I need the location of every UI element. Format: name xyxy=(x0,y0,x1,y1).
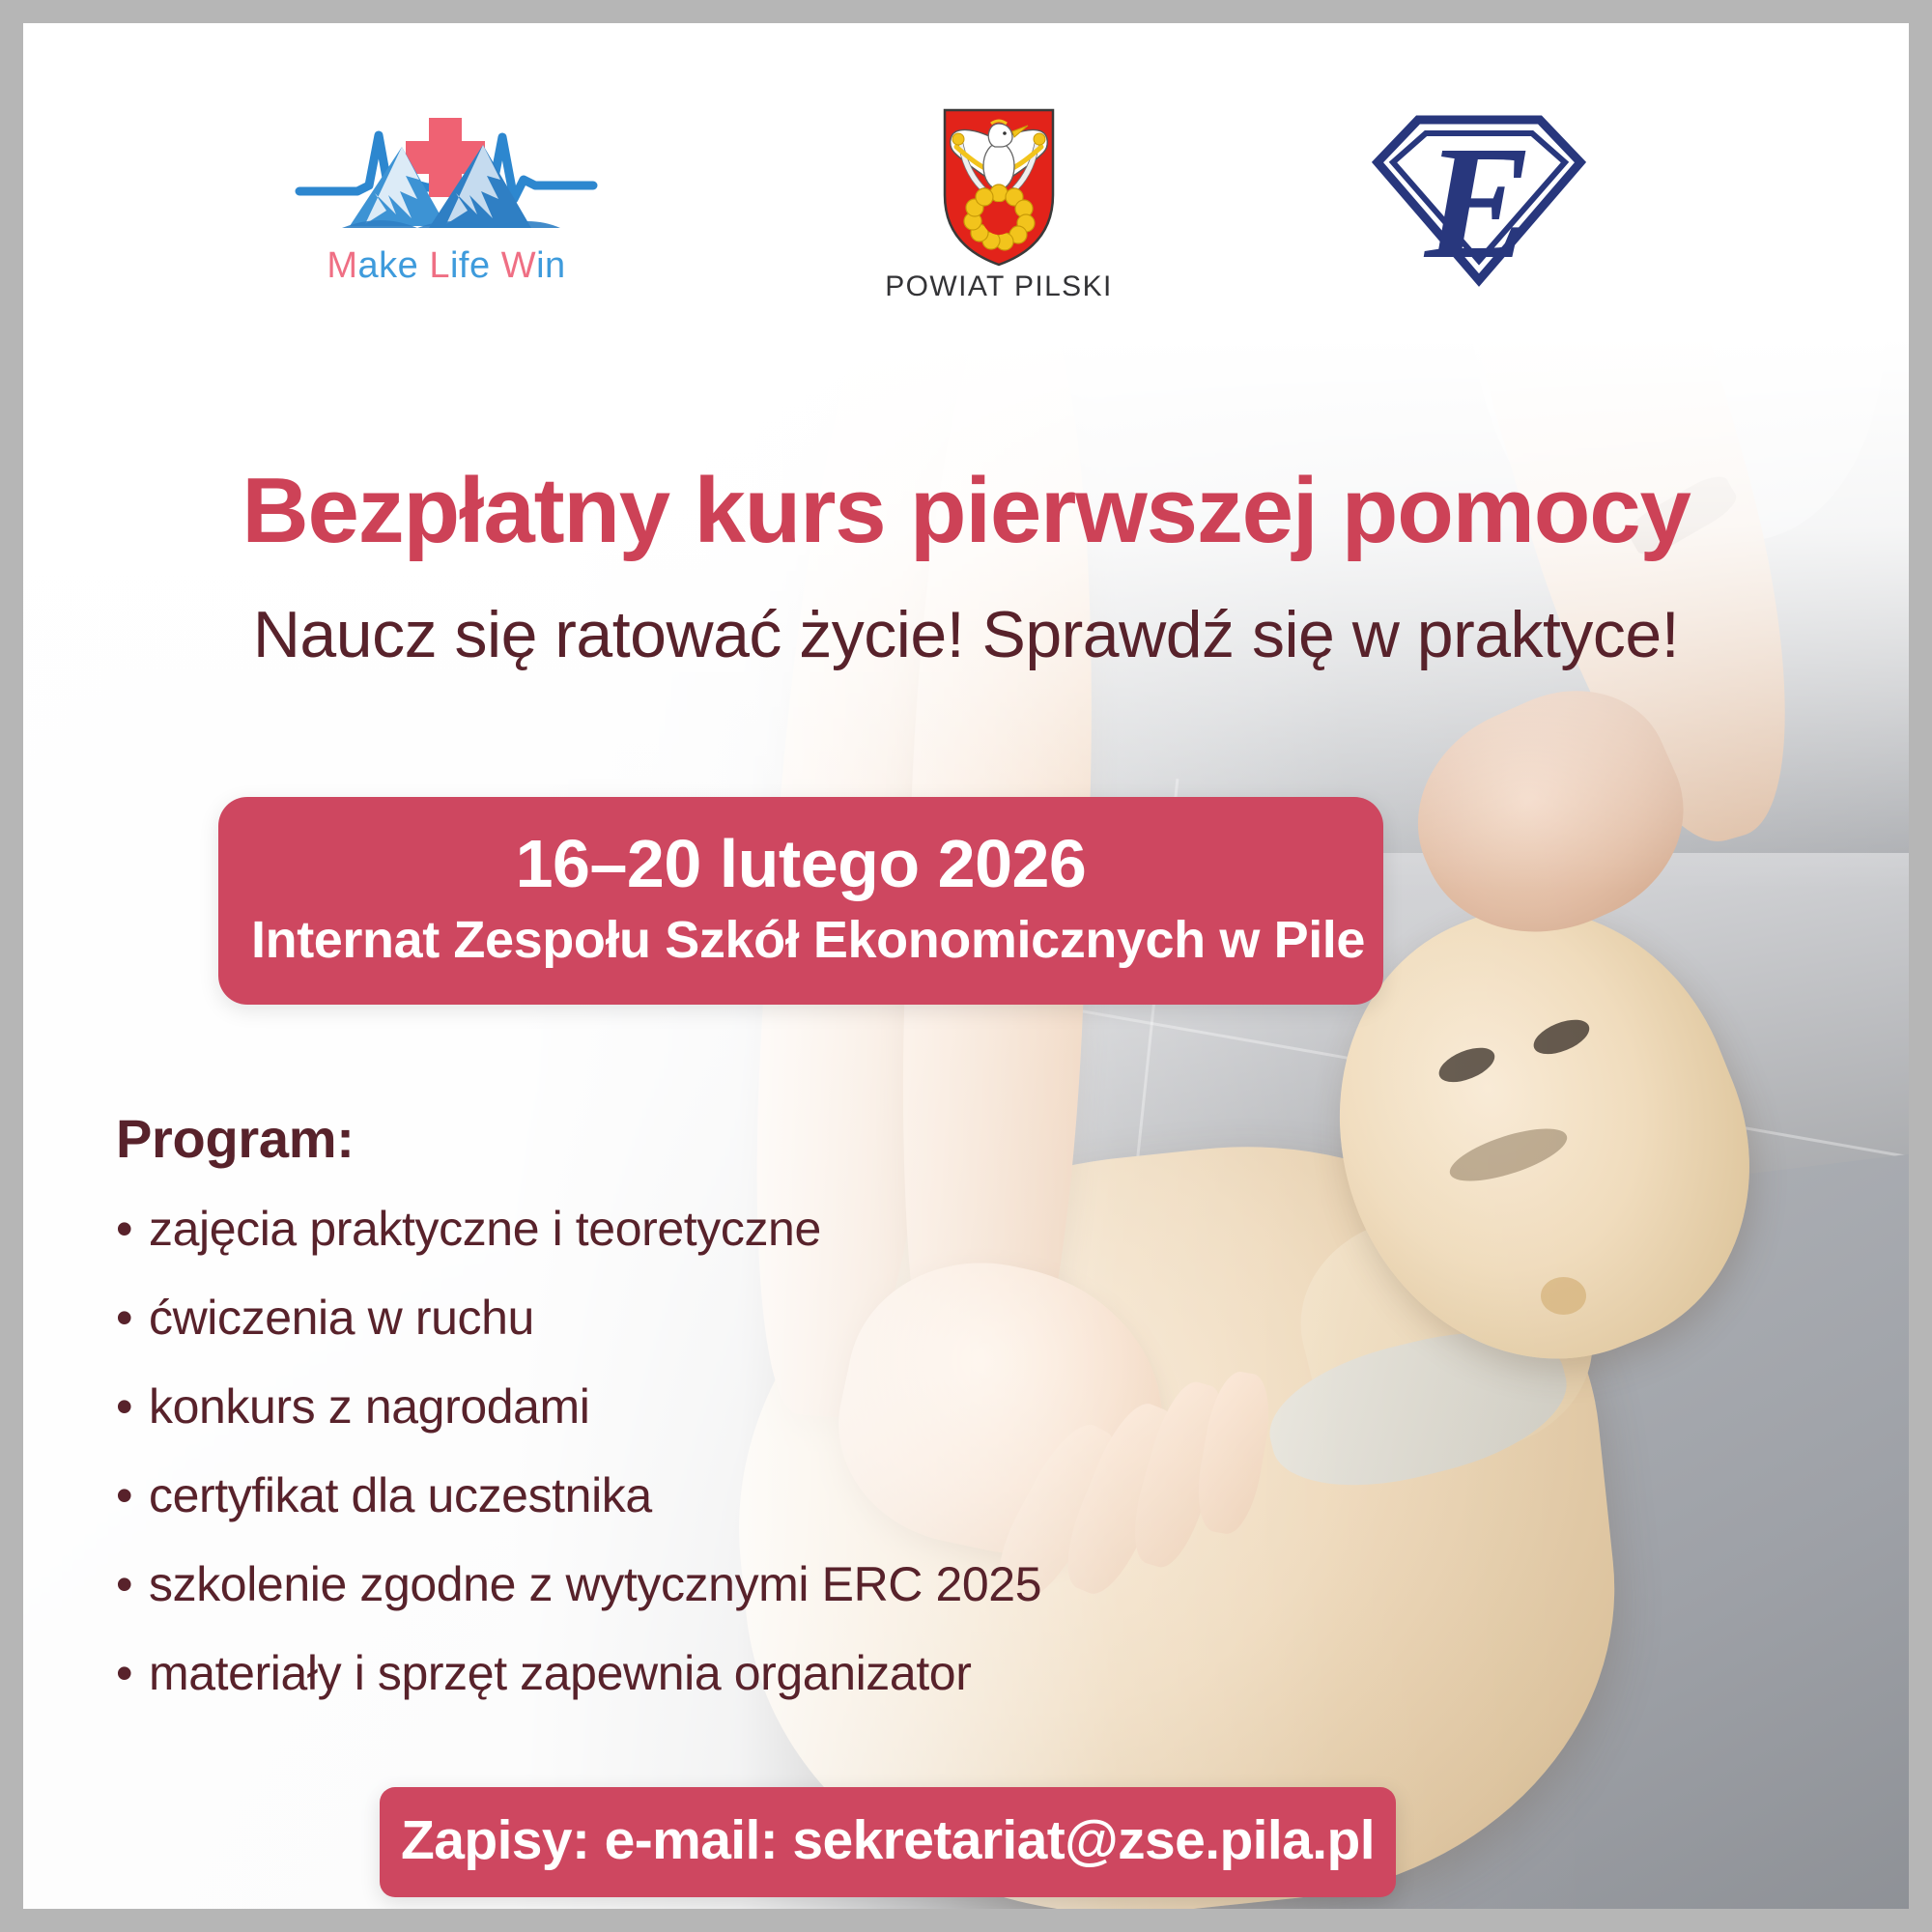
signup-email-text: Zapisy: e-mail: sekretariat@zse.pila.pl xyxy=(399,1808,1377,1872)
logo-zse-diamond: E xyxy=(1358,91,1600,303)
list-item-label: zajęcia praktyczne i teoretyczne xyxy=(149,1202,821,1256)
powiat-pilski-label: POWIAT PILSKI xyxy=(873,270,1124,303)
diamond-monogram-e-icon: E xyxy=(1358,91,1600,303)
date-location-banner: 16–20 lutego 2026 Internat Zespołu Szkół… xyxy=(218,797,1383,1005)
make-life-win-wordmark: Make Life Win xyxy=(282,245,611,287)
bullet-icon: • xyxy=(116,1469,149,1522)
zse-monogram-letter: E xyxy=(1423,113,1533,293)
bullet-icon: • xyxy=(116,1558,149,1611)
logo-powiat-pilski: POWIAT PILSKI xyxy=(873,81,1124,323)
program-section: Program: •zajęcia praktyczne i teoretycz… xyxy=(116,1107,1256,1736)
list-item: •zajęcia praktyczne i teoretyczne xyxy=(116,1203,1256,1256)
bullet-icon: • xyxy=(116,1203,149,1256)
signup-email-banner[interactable]: Zapisy: e-mail: sekretariat@zse.pila.pl xyxy=(380,1787,1396,1897)
logo-make-life-win: Make Life Win xyxy=(282,91,611,313)
event-location: Internat Zespołu Szkół Ekonomicznych w P… xyxy=(251,909,1350,972)
make-life-win-icon xyxy=(282,91,611,250)
bullet-icon: • xyxy=(116,1647,149,1700)
list-item-label: ćwiczenia w ruchu xyxy=(149,1291,534,1345)
list-item-label: materiały i sprzęt zapewnia organizator xyxy=(149,1646,971,1700)
list-item: •materiały i sprzęt zapewnia organizator xyxy=(116,1647,1256,1700)
page-title: Bezpłatny kurs pierwszej pomocy xyxy=(23,463,1909,559)
list-item: •certyfikat dla uczestnika xyxy=(116,1469,1256,1522)
event-dates: 16–20 lutego 2026 xyxy=(251,826,1350,901)
coat-of-arms-shield-icon xyxy=(873,81,1124,274)
list-item: •konkurs z nagrodami xyxy=(116,1380,1256,1434)
list-item: •szkolenie zgodne z wytycznymi ERC 2025 xyxy=(116,1558,1256,1611)
poster-canvas: Make Life Win xyxy=(23,23,1909,1909)
list-item: •ćwiczenia w ruchu xyxy=(116,1292,1256,1345)
wordmark-part: M xyxy=(327,245,357,286)
list-item-label: szkolenie zgodne z wytycznymi ERC 2025 xyxy=(149,1557,1041,1611)
wordmark-part: ife xyxy=(450,245,501,286)
wordmark-part: ake xyxy=(358,245,430,286)
program-list: •zajęcia praktyczne i teoretyczne •ćwicz… xyxy=(116,1203,1256,1700)
page-subtitle: Naucz się ratować życie! Sprawdź się w p… xyxy=(23,597,1909,672)
bullet-icon: • xyxy=(116,1292,149,1345)
mountains-ecg-cross-icon xyxy=(282,91,611,250)
program-heading: Program: xyxy=(116,1107,1256,1170)
wordmark-part: in xyxy=(536,245,566,286)
bullet-icon: • xyxy=(116,1380,149,1434)
wordmark-part: L xyxy=(429,245,450,286)
header-logos: Make Life Win xyxy=(23,81,1909,323)
list-item-label: konkurs z nagrodami xyxy=(149,1379,590,1434)
wordmark-part: W xyxy=(501,245,536,286)
list-item-label: certyfikat dla uczestnika xyxy=(149,1468,652,1522)
